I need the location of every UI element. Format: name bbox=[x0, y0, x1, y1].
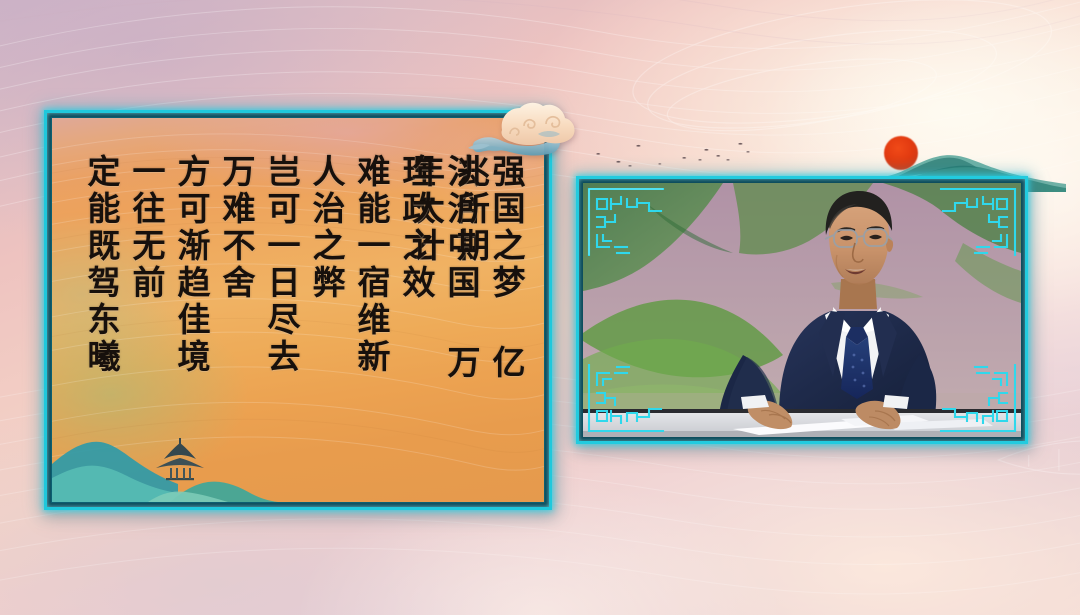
poem-column: 人治之弊 bbox=[299, 154, 344, 302]
flying-birds bbox=[586, 136, 766, 178]
poem-column: 岂可一日尽去 bbox=[254, 154, 299, 376]
video-panel[interactable] bbox=[576, 176, 1028, 444]
video-panel-inner bbox=[583, 183, 1021, 437]
broadcast-stage: 强国之梦 亿兆所期 法治中国 万年大计 理政之效 难能一宿维新 人治之弊 岂可一… bbox=[0, 0, 1080, 615]
chinese-fretwork-corner-icon bbox=[587, 363, 665, 433]
poem-column: 难能一宿维新 bbox=[344, 154, 389, 376]
poem-column: 一往无前 bbox=[119, 154, 164, 302]
poem-column: 方可渐趋佳境 bbox=[164, 154, 209, 376]
poem-panel[interactable]: 强国之梦 亿兆所期 法治中国 万年大计 理政之效 难能一宿维新 人治之弊 岂可一… bbox=[44, 110, 552, 510]
poem-text-block: 强国之梦 亿兆所期 法治中国 万年大计 理政之效 难能一宿维新 人治之弊 岂可一… bbox=[74, 154, 524, 414]
mountain-pavilion-scenery bbox=[52, 412, 292, 502]
auspicious-cloud-icon bbox=[466, 96, 581, 162]
poem-column: 万难不舍 bbox=[209, 154, 254, 302]
poem-column: 强国之梦 亿兆所期 bbox=[479, 154, 524, 414]
chinese-fretwork-corner-icon bbox=[587, 187, 665, 257]
pavilion bbox=[156, 438, 204, 480]
chinese-fretwork-corner-icon bbox=[939, 187, 1017, 257]
poem-panel-inner: 强国之梦 亿兆所期 法治中国 万年大计 理政之效 难能一宿维新 人治之弊 岂可一… bbox=[51, 117, 545, 503]
poem-column: 定能既驾东曦 bbox=[74, 154, 119, 376]
chinese-fretwork-corner-icon bbox=[939, 363, 1017, 433]
